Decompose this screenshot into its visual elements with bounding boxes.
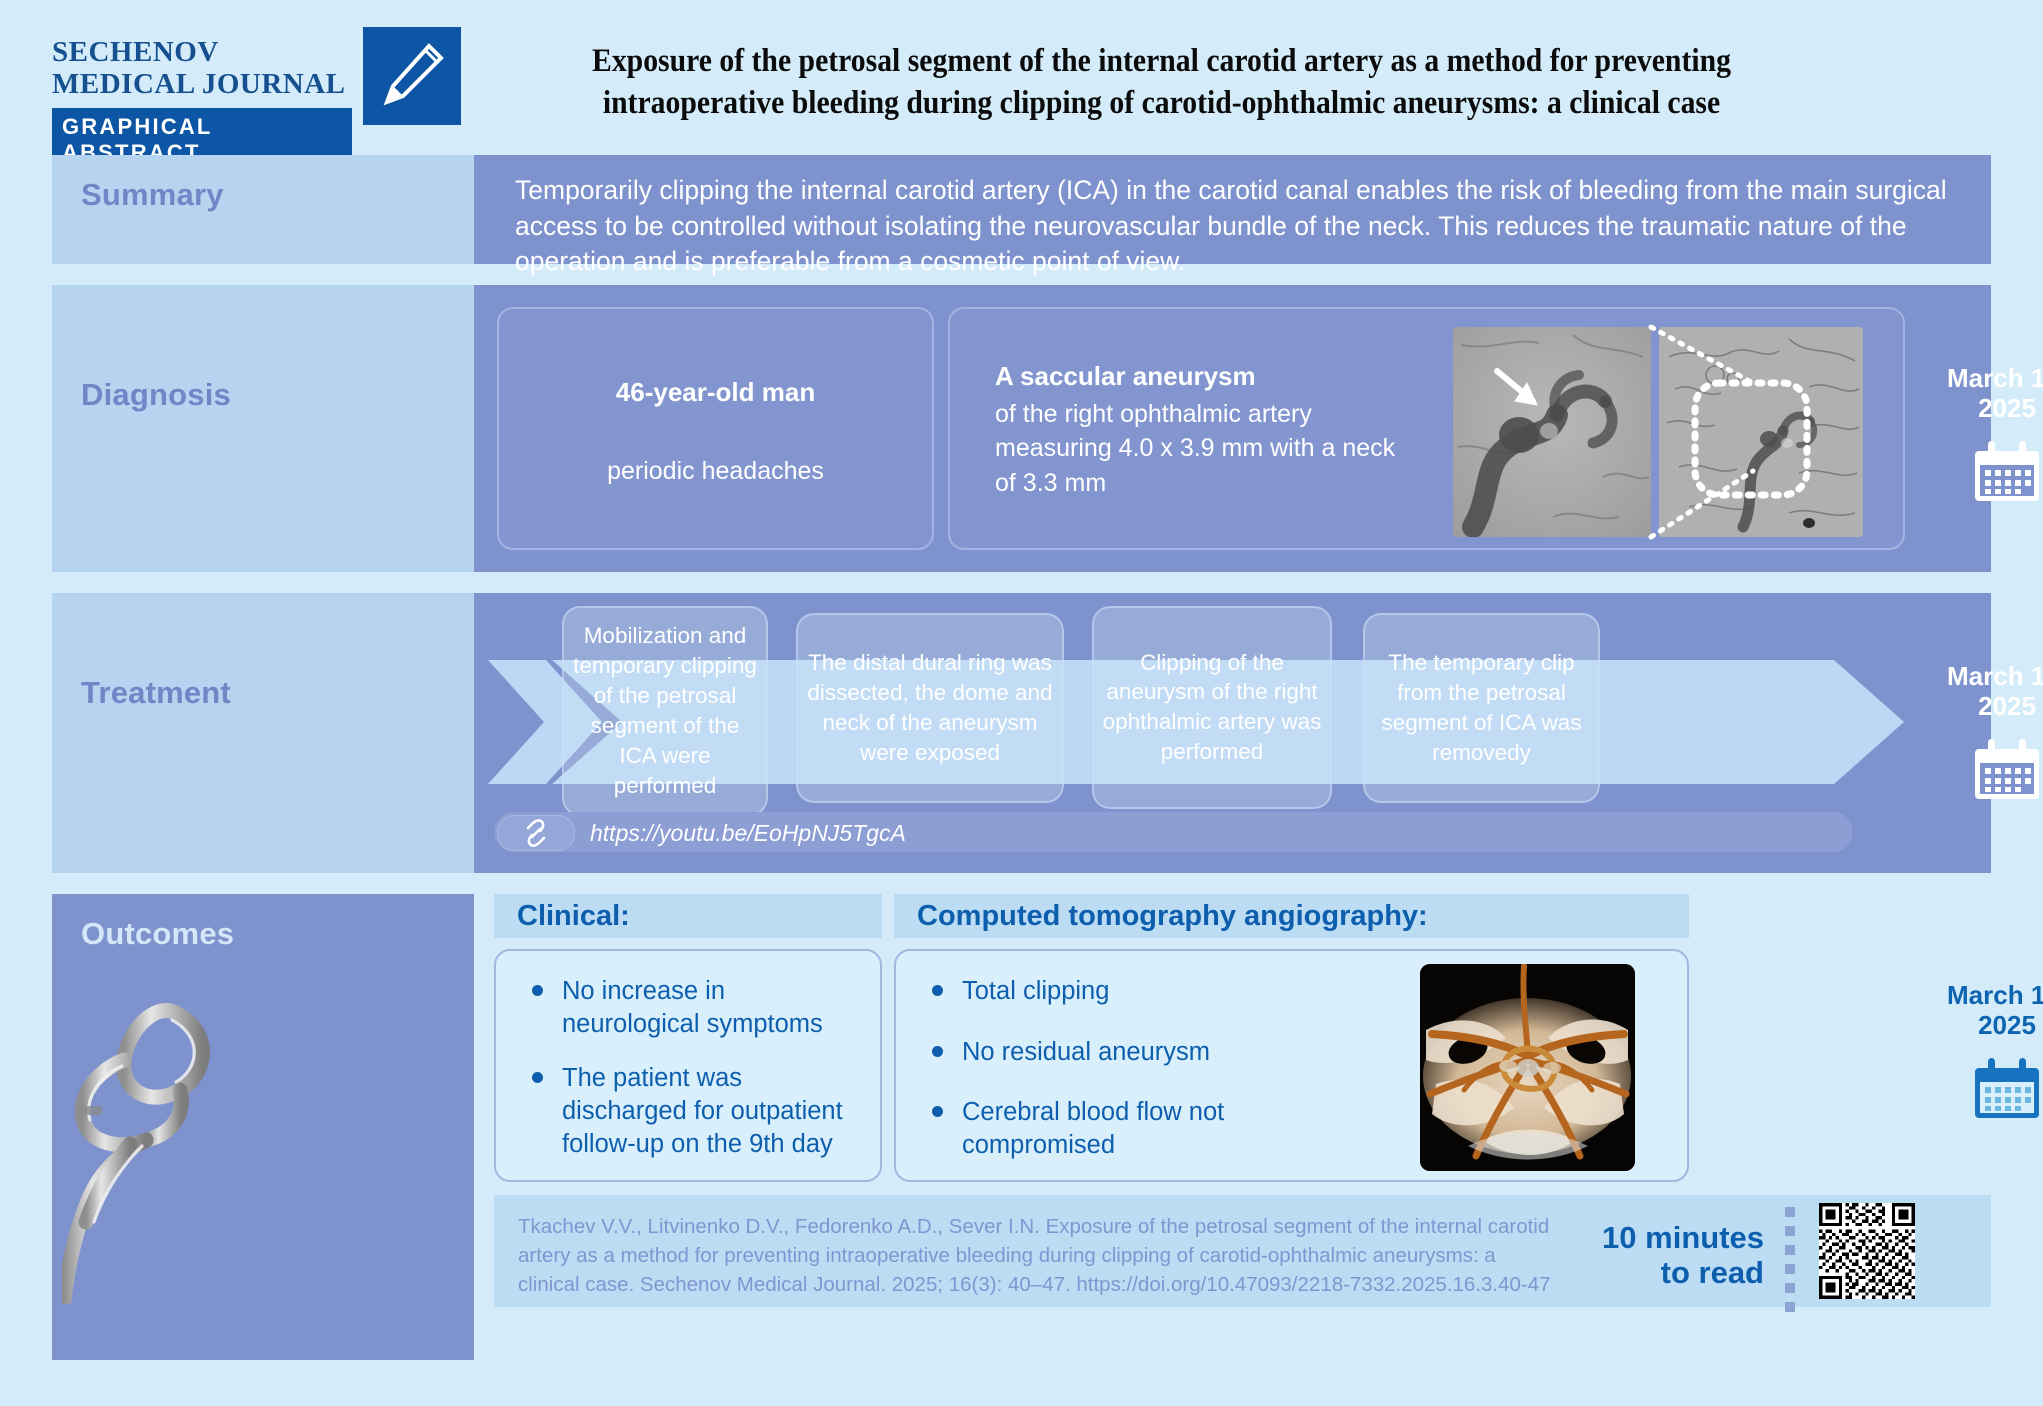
- diagnosis-date-block: March 13, 2025: [1932, 363, 2043, 506]
- citation-text: Tkachev V.V., Litvinenko D.V., Fedorenko…: [518, 1212, 1553, 1299]
- finding-card: A saccular aneurysm of the right ophthal…: [948, 307, 1905, 550]
- journal-logo: SECHENOV MEDICAL JOURNAL GRAPHICAL ABSTR…: [52, 36, 352, 173]
- outcomes-content: Clinical: Computed tomography angiograph…: [474, 894, 1991, 1360]
- summary-label-pane: Summary: [52, 155, 474, 264]
- treatment-step: The distal dural ring was dissected, the…: [796, 613, 1064, 803]
- diagnosis-label-pane: Diagnosis: [52, 285, 474, 572]
- link-icon-pill: [497, 815, 575, 851]
- cta-3d-reconstruction-image: [1420, 964, 1635, 1171]
- link-icon: [519, 818, 553, 848]
- video-url[interactable]: https://youtu.be/EoHpNJ5TgcA: [590, 820, 906, 847]
- list-item-label: Cerebral blood flow not compromised: [962, 1098, 1224, 1159]
- list-item-label: No residual aneurysm: [962, 1038, 1210, 1066]
- bullet-dot: [932, 1046, 943, 1057]
- section-summary: Summary Temporarily clipping the interna…: [52, 155, 1991, 264]
- bullet-dot: [932, 1106, 943, 1117]
- finding-title: A saccular aneurysm: [995, 361, 1256, 392]
- video-link-bar[interactable]: https://youtu.be/EoHpNJ5TgcA: [494, 812, 1853, 852]
- calendar-icon: [1932, 737, 2043, 804]
- treatment-step-label: The temporary clip from the petrosal seg…: [1373, 648, 1590, 768]
- list-item: Total clipping: [926, 975, 1346, 1008]
- treatment-step: Clipping of the aneurysm of the right op…: [1092, 606, 1332, 809]
- outcomes-date: March 19, 2025: [1932, 980, 2043, 1040]
- bullet-dot: [932, 985, 943, 996]
- page-title: Exposure of the petrosal segment of the …: [500, 40, 1823, 124]
- angiography-images: [1453, 327, 1863, 537]
- angiogram-zoomed-image: [1453, 327, 1651, 537]
- clinical-bullet-list: No increase in neurological symptoms The…: [526, 975, 864, 1182]
- section-treatment: Treatment Mobilization and temporary cli…: [52, 593, 1991, 873]
- read-time-badge: 10 minutes to read: [1584, 1221, 1764, 1290]
- summary-label: Summary: [81, 177, 224, 213]
- clinical-heading: Clinical:: [517, 900, 630, 933]
- clinical-outcomes-card: No increase in neurological symptoms The…: [494, 949, 882, 1182]
- treatment-content: Mobilization and temporary clipping of t…: [474, 593, 1991, 873]
- cta-heading: Computed tomography angiography:: [917, 900, 1428, 933]
- list-item: Cerebral blood flow not compromised: [926, 1096, 1346, 1161]
- journal-name-line1: SECHENOV: [52, 36, 352, 68]
- diagnosis-date: March 13, 2025: [1932, 363, 2043, 423]
- cta-heading-bar: Computed tomography angiography:: [894, 894, 1689, 938]
- journal-name-line2: MEDICAL JOURNAL: [52, 68, 352, 100]
- qr-code-icon[interactable]: [1819, 1203, 1915, 1299]
- treatment-step-label: The distal dural ring was dissected, the…: [806, 648, 1054, 768]
- diagnosis-label: Diagnosis: [81, 377, 231, 413]
- dotted-divider: [1785, 1207, 1795, 1295]
- treatment-date: March 18, 2025: [1932, 661, 2043, 721]
- clinical-heading-bar: Clinical:: [494, 894, 882, 938]
- list-item: No residual aneurysm: [926, 1036, 1346, 1069]
- treatment-step-label: Mobilization and temporary clipping of t…: [572, 621, 758, 801]
- calendar-icon: [1932, 439, 2043, 506]
- treatment-date-block: March 18, 2025: [1932, 661, 2043, 804]
- treatment-label: Treatment: [81, 675, 231, 711]
- diagnosis-content: 46-year-old man periodic headaches A sac…: [474, 285, 1991, 572]
- finding-description: of the right ophthalmic artery measuring…: [995, 397, 1415, 500]
- bullet-dot: [532, 985, 543, 996]
- summary-content: Temporarily clipping the internal caroti…: [474, 155, 1991, 264]
- patient-symptom: periodic headaches: [499, 457, 932, 486]
- page-header: SECHENOV MEDICAL JOURNAL GRAPHICAL ABSTR…: [0, 0, 2043, 148]
- treatment-step-label: Clipping of the aneurysm of the right op…: [1102, 648, 1322, 768]
- treatment-label-pane: Treatment: [52, 593, 474, 873]
- calendar-icon: [1932, 1056, 2043, 1123]
- outcomes-date-block: March 19, 2025: [1932, 980, 2043, 1123]
- list-item-label: The patient was discharged for outpatien…: [562, 1064, 843, 1157]
- patient-age-sex: 46-year-old man: [499, 377, 932, 408]
- aneurysm-clip-illustration: [62, 974, 257, 1304]
- list-item-label: No increase in neurological symptoms: [562, 977, 823, 1038]
- cta-bullet-list: Total clipping No residual aneurysm Cere…: [926, 975, 1346, 1184]
- list-item: The patient was discharged for outpatien…: [526, 1062, 864, 1160]
- angiogram-overview-image: [1659, 327, 1863, 537]
- citation-footer: Tkachev V.V., Litvinenko D.V., Fedorenko…: [494, 1195, 1991, 1307]
- list-item: No increase in neurological symptoms: [526, 975, 864, 1040]
- pencil-icon-tile: [363, 27, 461, 125]
- section-outcomes: Outcomes: [52, 894, 1991, 1360]
- summary-text: Temporarily clipping the internal caroti…: [515, 173, 1957, 280]
- bullet-dot: [532, 1072, 543, 1083]
- outcomes-label-pane: Outcomes: [52, 894, 474, 1360]
- outcomes-label: Outcomes: [81, 916, 234, 952]
- list-item-label: Total clipping: [962, 977, 1109, 1005]
- patient-card: 46-year-old man periodic headaches: [497, 307, 934, 550]
- treatment-step: Mobilization and temporary clipping of t…: [562, 606, 768, 816]
- treatment-step: The temporary clip from the petrosal seg…: [1363, 613, 1600, 803]
- cta-outcomes-card: Total clipping No residual aneurysm Cere…: [894, 949, 1689, 1182]
- section-diagnosis: Diagnosis 46-year-old man periodic heada…: [52, 285, 1991, 572]
